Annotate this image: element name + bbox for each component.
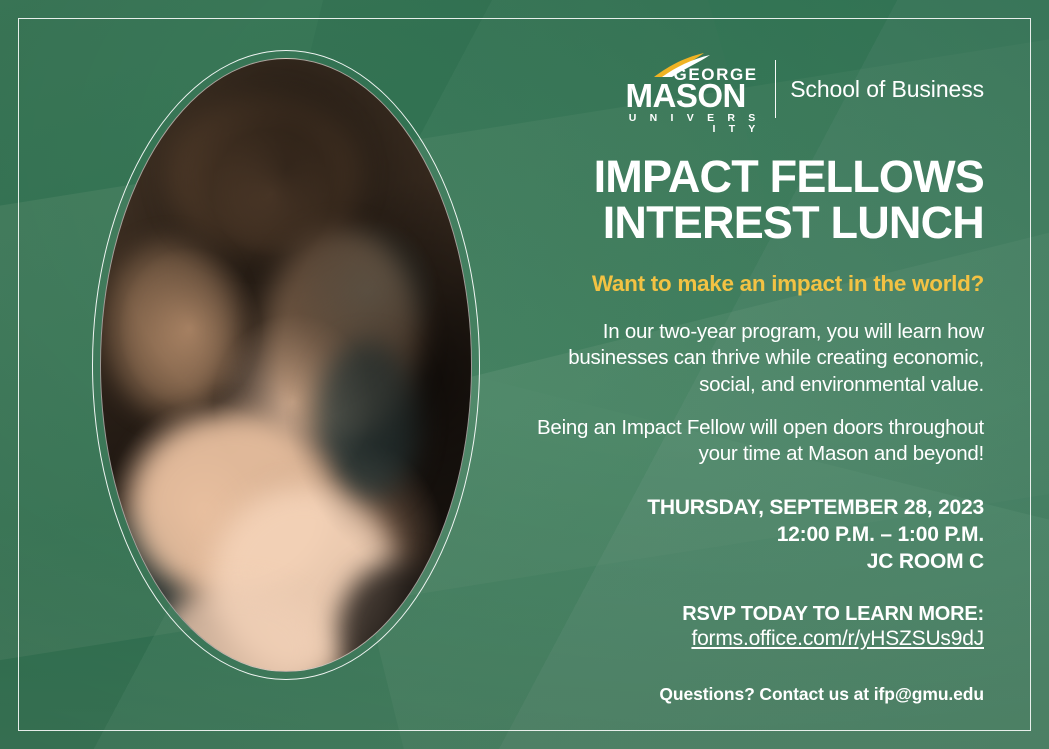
page-title: IMPACT FELLOWS INTEREST LUNCH xyxy=(520,154,984,247)
logo-line-mason: MASON xyxy=(626,79,746,112)
logo-line-university: U N I V E R S I T Y xyxy=(628,113,761,134)
rsvp-link[interactable]: forms.office.com/r/yHSZSUs9dJ xyxy=(520,626,984,652)
contact-line: Questions? Contact us at ifp@gmu.edu xyxy=(520,684,984,705)
gmu-logo-mark: GEORGE MASON U N I V E R S I T Y xyxy=(626,52,761,126)
description-paragraph-2: Being an Impact Fellow will open doors t… xyxy=(520,415,984,468)
logo-divider-rule xyxy=(775,60,777,118)
school-of-business-label: School of Business xyxy=(790,76,984,103)
event-details: THURSDAY, SEPTEMBER 28, 2023 12:00 P.M. … xyxy=(520,494,984,576)
stacked-hands-photo xyxy=(100,58,472,672)
poster-canvas: GEORGE MASON U N I V E R S I T Y School … xyxy=(0,0,1049,749)
event-location: JC ROOM C xyxy=(520,548,984,575)
photo-shading xyxy=(101,59,471,671)
rsvp-label: RSVP TODAY TO LEARN MORE: xyxy=(682,603,984,625)
content-column: GEORGE MASON U N I V E R S I T Y School … xyxy=(520,52,984,705)
event-time: 12:00 P.M. – 1:00 P.M. xyxy=(520,521,984,548)
headline-line-2: INTEREST LUNCH xyxy=(520,200,984,246)
rsvp-block: RSVP TODAY TO LEARN MORE: forms.office.c… xyxy=(520,602,984,652)
tagline: Want to make an impact in the world? xyxy=(520,271,984,297)
description-paragraph-1: In our two-year program, you will learn … xyxy=(520,319,984,399)
hands-photo-frame xyxy=(100,58,472,672)
event-date: THURSDAY, SEPTEMBER 28, 2023 xyxy=(520,494,984,521)
gmu-school-of-business-logo: GEORGE MASON U N I V E R S I T Y School … xyxy=(520,52,984,126)
headline-line-1: IMPACT FELLOWS xyxy=(594,151,984,202)
